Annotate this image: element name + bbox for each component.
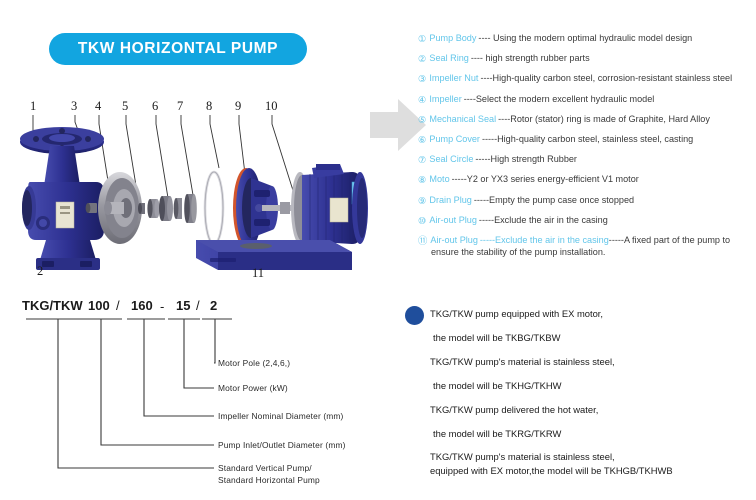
legend-name-10: Air-out Plug xyxy=(429,215,477,226)
legend-item-10: ⑩ Air-out Plug -----Exclude the air in t… xyxy=(418,215,754,226)
legend-name-11: Air-out Plug xyxy=(430,235,478,246)
legend-item-7: ⑦ Seal Circle -----High strength Rubber xyxy=(418,154,754,165)
model-variants-notes: TKG/TKW pump equipped with EX motor, the… xyxy=(400,300,756,500)
legend-desc-11-line2: ensure the stability of the pump install… xyxy=(431,247,754,258)
legend-item-6: ⑥ Pump Cover -----High-quality carbon st… xyxy=(418,134,754,145)
legend-desc-8: -----Y2 or YX3 series energy-efficient V… xyxy=(452,174,639,185)
nomenclature-label-motor-power: Motor Power (kW) xyxy=(218,383,288,394)
legend-desc-7: -----High strength Rubber xyxy=(475,154,577,165)
callout-11: 11 xyxy=(252,266,264,281)
legend-desc-6: -----High-quality carbon steel, stainles… xyxy=(482,134,693,145)
legend-name-2: Seal Ring xyxy=(429,53,468,64)
legend-number-3: ③ xyxy=(418,73,426,84)
callout-9: 9 xyxy=(235,99,241,114)
legend-number-4: ④ xyxy=(418,94,426,105)
legend-name-6: Pump Cover xyxy=(429,134,480,145)
note-line-7: TKG/TKW pump's material is stainless ste… xyxy=(430,451,615,463)
legend-name-7: Seal Circle xyxy=(429,154,473,165)
nomenclature-label-impeller-dia: Impeller Nominal Diameter (mm) xyxy=(218,411,344,422)
legend-number-9: ⑨ xyxy=(418,195,426,206)
callout-10: 10 xyxy=(265,99,278,114)
legend-desc-5: ----Rotor (stator) ring is made of Graph… xyxy=(498,114,710,125)
note-line-1: TKG/TKW pump equipped with EX motor, xyxy=(430,308,603,320)
legend-item-3: ③ Impeller Nut ----High-quality carbon s… xyxy=(418,73,754,84)
legend-desc-11-blue: -----Exclude the air in the casing xyxy=(480,235,609,246)
note-line-3: TKG/TKW pump's material is stainless ste… xyxy=(430,356,615,368)
legend-desc-11-dark: -----A fixed part of the pump to xyxy=(609,235,730,246)
legend-number-10: ⑩ xyxy=(418,215,426,226)
callout-8: 8 xyxy=(206,99,212,114)
legend-name-8: Moto xyxy=(429,174,449,185)
legend-item-5: ⑤ Mechanical Seal ----Rotor (stator) rin… xyxy=(418,114,754,125)
legend-item-9: ⑨ Drain Plug -----Empty the pump case on… xyxy=(418,195,754,206)
callout-1: 1 xyxy=(30,99,36,114)
legend-name-9: Drain Plug xyxy=(429,195,471,206)
note-line-4: the model will be TKHG/TKHW xyxy=(433,380,562,392)
legend-name-4: Impeller xyxy=(429,94,461,105)
legend-item-8: ⑧ Moto -----Y2 or YX3 series energy-effi… xyxy=(418,174,754,185)
legend-number-11: ⑪ xyxy=(418,235,427,246)
legend-desc-4: ----Select the modern excellent hydrauli… xyxy=(464,94,655,105)
callout-5: 5 xyxy=(122,99,128,114)
callout-3: 3 xyxy=(71,99,77,114)
page-title: TKW HORIZONTAL PUMP xyxy=(78,40,278,58)
legend-name-5: Mechanical Seal xyxy=(429,114,496,125)
legend-item-4: ④ Impeller ----Select the modern excelle… xyxy=(418,94,754,105)
legend-number-1: ① xyxy=(418,33,426,44)
note-line-5: TKG/TKW pump delivered the hot water, xyxy=(430,404,598,416)
exploded-pump-diagram: 1 3 4 5 6 7 8 9 10 2 11 xyxy=(0,90,400,290)
callout-7: 7 xyxy=(177,99,183,114)
legend-item-1: ① Pump Body ---- Using the modern optima… xyxy=(418,33,754,44)
legend-item-2: ② Seal Ring ---- high strength rubber pa… xyxy=(418,53,754,64)
nomenclature-label-standard-pump-2: Standard Horizontal Pump xyxy=(218,475,320,486)
legend-number-5: ⑤ xyxy=(418,114,426,125)
legend-desc-2: ---- high strength rubber parts xyxy=(471,53,590,64)
pump-illustration xyxy=(0,90,400,290)
legend-name-1: Pump Body xyxy=(429,33,476,44)
legend-desc-1: ---- Using the modern optimal hydraulic … xyxy=(478,33,692,44)
nomenclature-leader-lines xyxy=(0,295,400,500)
nomenclature-label-motor-pole: Motor Pole (2,4,6,) xyxy=(218,358,290,369)
nomenclature-label-inlet-outlet: Pump Inlet/Outlet Diameter (mm) xyxy=(218,440,346,451)
legend-item-11: ⑪ Air-out Plug -----Exclude the air in t… xyxy=(418,235,754,246)
note-line-8: equipped with EX motor,the model will be… xyxy=(430,465,673,477)
legend-number-8: ⑧ xyxy=(418,174,426,185)
page-title-banner: TKW HORIZONTAL PUMP xyxy=(49,33,307,65)
model-nomenclature-diagram: TKG/TKW 100 160 15 2 / - / Motor Pole (2… xyxy=(0,295,400,500)
callout-6: 6 xyxy=(152,99,158,114)
legend-number-7: ⑦ xyxy=(418,154,426,165)
note-line-2: the model will be TKBG/TKBW xyxy=(433,332,560,344)
note-line-6: the model will be TKRG/TKRW xyxy=(433,428,561,440)
legend-desc-3: ----High-quality carbon steel, corrosion… xyxy=(480,73,732,84)
legend-name-3: Impeller Nut xyxy=(429,73,478,84)
legend-desc-9: -----Empty the pump case once stopped xyxy=(474,195,634,206)
nomenclature-label-standard-pump-1: Standard Vertical Pump/ xyxy=(218,463,312,474)
legend-number-6: ⑥ xyxy=(418,134,426,145)
callout-2: 2 xyxy=(37,264,43,279)
legend-number-2: ② xyxy=(418,53,426,64)
callout-4: 4 xyxy=(95,99,101,114)
bullet-point-icon xyxy=(405,306,424,325)
legend-desc-10: -----Exclude the air in the casing xyxy=(479,215,608,226)
parts-legend: ① Pump Body ---- Using the modern optima… xyxy=(418,33,754,258)
